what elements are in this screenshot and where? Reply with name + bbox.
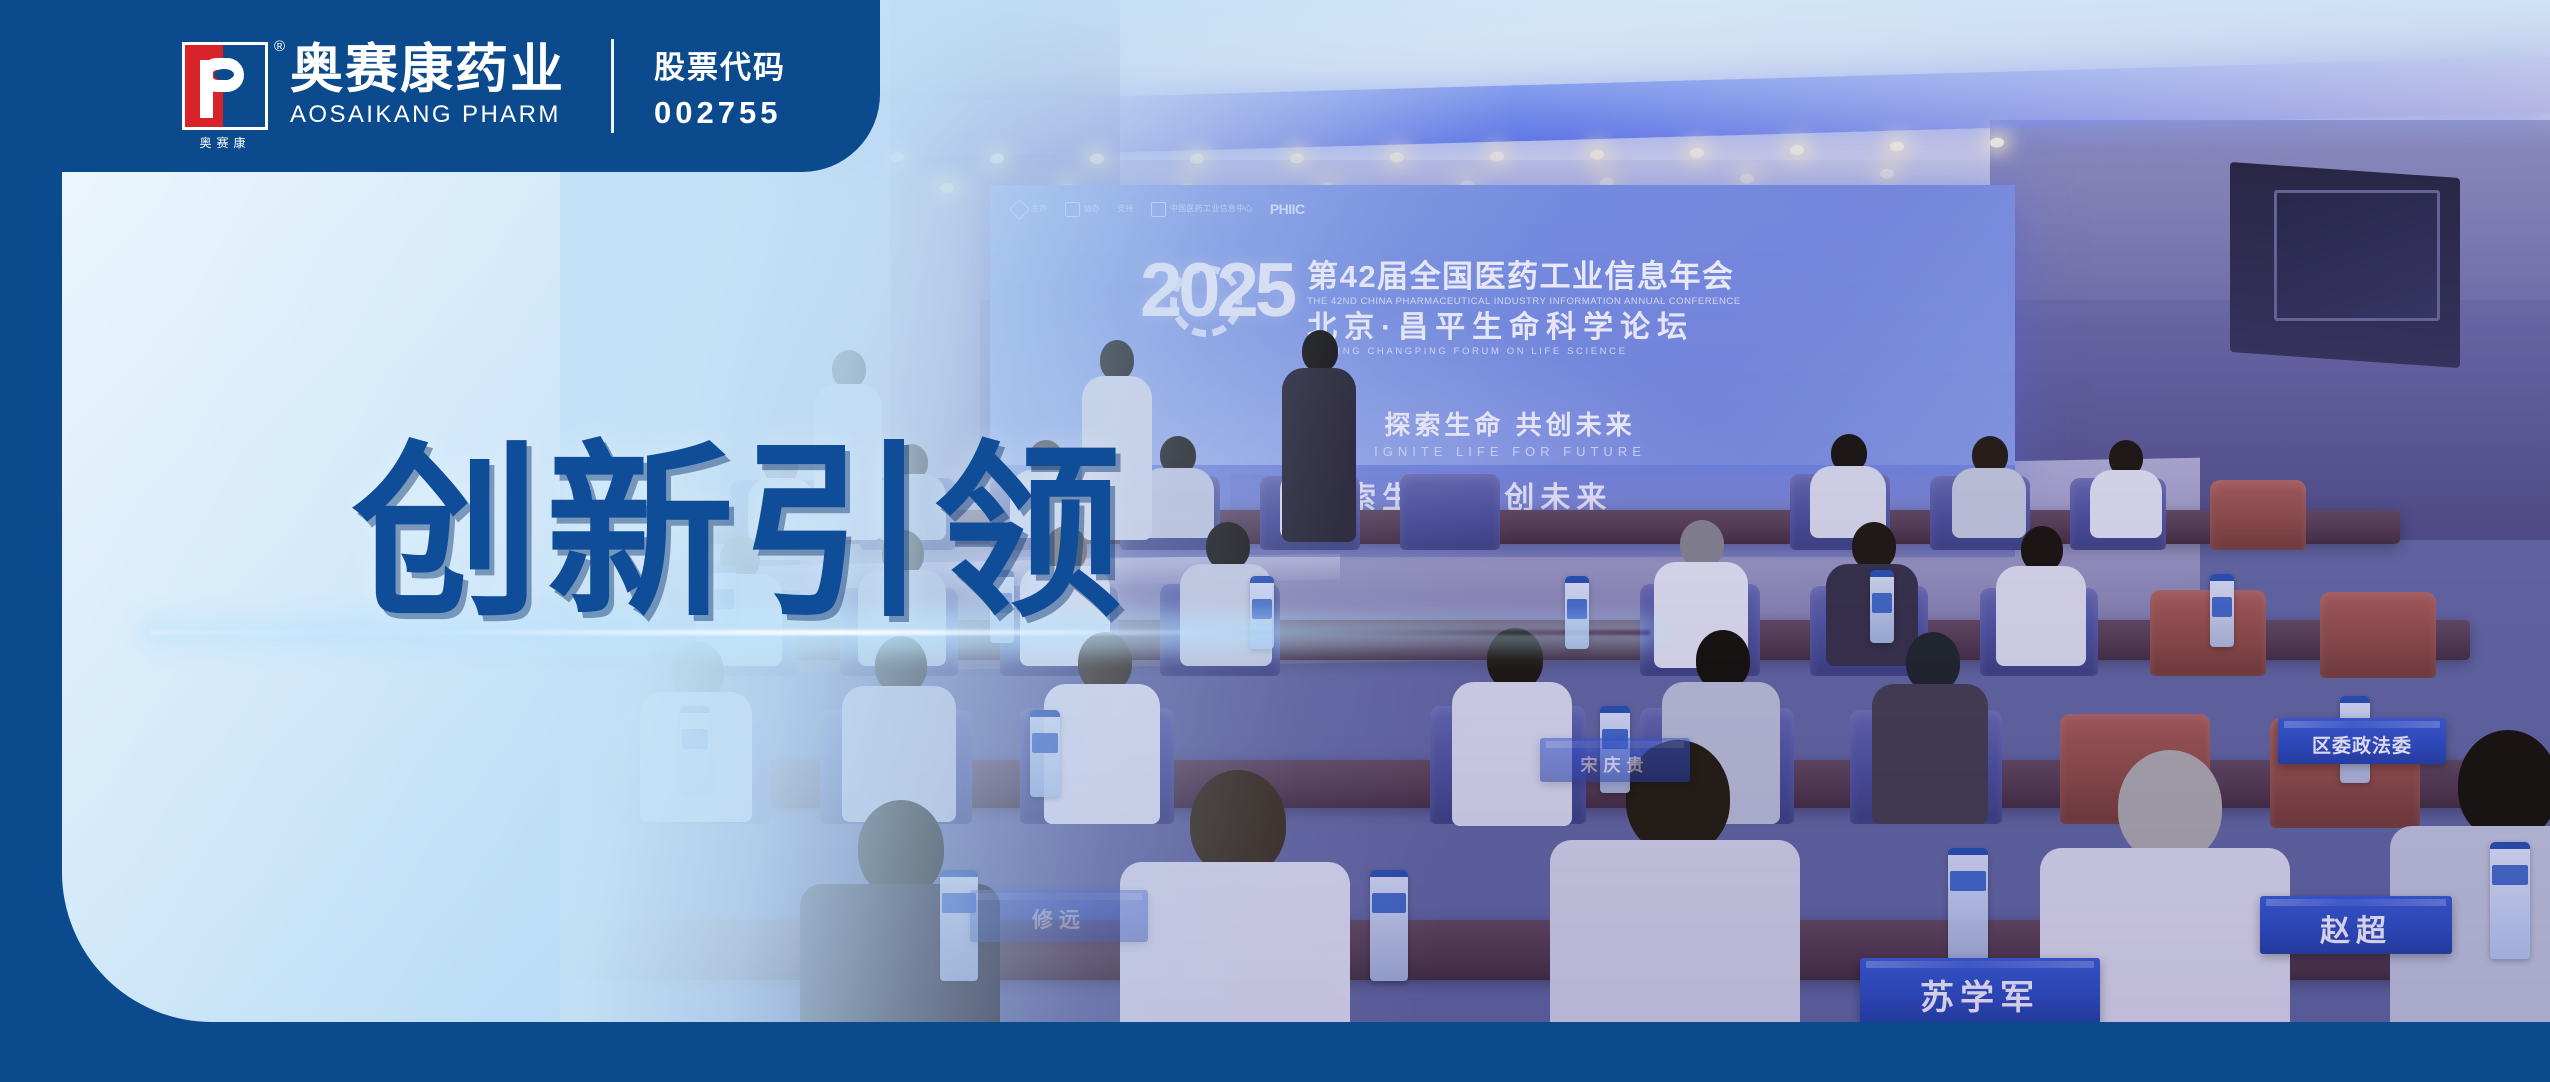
dna-ring-icon <box>1170 265 1242 337</box>
nameplate-logo-strip <box>976 893 1142 900</box>
attendee <box>2090 440 2162 536</box>
stock-info: 股票代码 002755 <box>654 42 786 131</box>
logo-p-counter <box>214 69 234 80</box>
aosaikang-p-logo-icon: ® 奥赛康 <box>182 42 268 130</box>
nameplate-logo-strip <box>1866 961 2094 968</box>
nameplate-logo-strip <box>2266 899 2446 906</box>
nameplate-logo-strip <box>1546 741 1684 748</box>
attendee-head <box>2458 730 2550 840</box>
page-title: 创新引领 <box>352 440 1128 628</box>
water-bottle <box>1030 710 1060 797</box>
sponsor-logo-1: 主办 <box>1012 202 1048 217</box>
water-bottle <box>1948 848 1988 965</box>
chair <box>2150 590 2266 676</box>
sponsor-square-icon <box>1065 202 1080 217</box>
sponsor-logo-2-label: 协办 <box>1084 205 1101 213</box>
water-bottle <box>1370 870 1408 981</box>
attendee-head <box>1206 522 1250 570</box>
nameplate-blur-2-text: 修远 <box>1032 904 1086 934</box>
nameplate-su-xuejun: 苏学军 <box>1860 958 2100 1024</box>
led-title-cn-2: 北京·昌平生命科学论坛 <box>1307 312 1741 344</box>
attendee-body <box>2090 470 2162 538</box>
nameplate-blur-1: 宋庆贵 <box>1540 738 1690 782</box>
led-title-texts: 第42届全国医药工业信息年会 THE 42ND CHINA PHARMACEUT… <box>1307 257 1741 357</box>
frame-border-bottom <box>0 1022 2550 1082</box>
water-bottle <box>1870 570 1894 643</box>
attendee-body <box>1282 368 1356 542</box>
stock-label: 股票代码 <box>654 42 786 87</box>
side-display-screen <box>2274 190 2440 321</box>
attendee <box>1996 526 2086 662</box>
sponsor-logo-2: 协办 <box>1065 202 1101 217</box>
led-title-en-1: THE 42ND CHINA PHARMACEUTICAL INDUSTRY I… <box>1307 296 1741 307</box>
led-title-cn-1: 第42届全国医药工业信息年会 <box>1307 261 1741 294</box>
attendee-body <box>1872 684 1988 824</box>
stock-code: 002755 <box>654 95 786 131</box>
sponsor-logo-phic-label: PHIIC <box>1270 201 1305 217</box>
attendee-head <box>1906 632 1960 692</box>
sponsor-mark-icon <box>1151 202 1166 217</box>
water-bottle <box>1565 576 1589 649</box>
water-bottle <box>1250 576 1274 649</box>
attendee-head <box>858 800 944 896</box>
water-bottle <box>680 706 710 793</box>
led-title-en-2: BEIJING CHANGPING FORUM ON LIFE SCIENCE <box>1307 346 1741 357</box>
attendee-head <box>1190 770 1286 876</box>
attendee-body <box>1996 566 2086 666</box>
nameplate-zhao-chao: 赵超 <box>2260 896 2452 954</box>
attendee-head <box>2118 750 2222 862</box>
attendee-head <box>1487 628 1543 690</box>
sponsor-logo-row: 主办 协办 支持 中国医药工业信息中心 PHIIC <box>1012 201 1305 217</box>
nameplate-qu-wei-zhengfawei: 区委政法委 <box>2278 718 2446 764</box>
sponsor-logo-4: 中国医药工业信息中心 <box>1151 202 1253 217</box>
brand-logo: ® 奥赛康 奥赛康药业 AOSAIKANG PHARM 股票代码 002755 <box>182 39 786 133</box>
water-bottle <box>2210 574 2234 647</box>
brand-name-en: AOSAIKANG PHARM <box>290 101 565 129</box>
attendee <box>1872 632 1988 820</box>
sponsor-diamond-icon <box>1009 198 1030 219</box>
attendee-head <box>1680 520 1724 568</box>
led-year: 2025 <box>1140 257 1293 325</box>
water-bottle <box>2490 842 2530 959</box>
logo-p-glyph <box>194 52 246 118</box>
attendee-head <box>1696 630 1750 690</box>
nameplate-blur-1-text: 宋庆贵 <box>1581 751 1650 776</box>
nameplate-qu-wei-zhengfawei-text: 区委政法委 <box>2312 731 2412 758</box>
sponsor-logo-3-label: 支持 <box>1117 205 1134 213</box>
logo-sub-label: 奥赛康 <box>182 134 268 151</box>
sponsor-logo-1-label: 主办 <box>1031 205 1048 213</box>
brand-header-bar: ® 奥赛康 奥赛康药业 AOSAIKANG PHARM 股票代码 002755 <box>0 0 880 172</box>
attendee-head <box>1302 330 1338 372</box>
attendee <box>842 636 956 818</box>
attendee-head <box>1100 340 1134 380</box>
chair <box>2320 592 2436 678</box>
nameplate-logo-strip <box>2284 721 2440 728</box>
attendee-standing <box>1280 330 1358 542</box>
nameplate-blur-2: 修远 <box>970 890 1148 942</box>
promo-banner: 主办 协办 支持 中国医药工业信息中心 PHIIC <box>0 0 2550 1082</box>
attendee-head <box>1852 522 1896 570</box>
nameplate-zhao-chao-text: 赵超 <box>2320 906 2392 950</box>
registered-mark-icon: ® <box>274 38 285 55</box>
brand-name-block: 奥赛康药业 AOSAIKANG PHARM <box>290 43 565 128</box>
led-main-title-block: 2025 第42届全国医药工业信息年会 THE 42ND CHINA PHARM… <box>1140 257 1995 357</box>
chair <box>1400 474 1500 550</box>
sponsor-logo-4-label: 中国医药工业信息中心 <box>1170 205 1253 213</box>
nameplate-su-xuejun-text: 苏学军 <box>1920 970 2040 1019</box>
header-divider <box>611 39 614 133</box>
chair <box>2210 480 2306 550</box>
brand-name-cn: 奥赛康药业 <box>290 43 565 97</box>
sponsor-logo-3: 支持 <box>1117 205 1134 213</box>
attendee <box>1952 436 2026 536</box>
attendee-head <box>832 350 866 388</box>
